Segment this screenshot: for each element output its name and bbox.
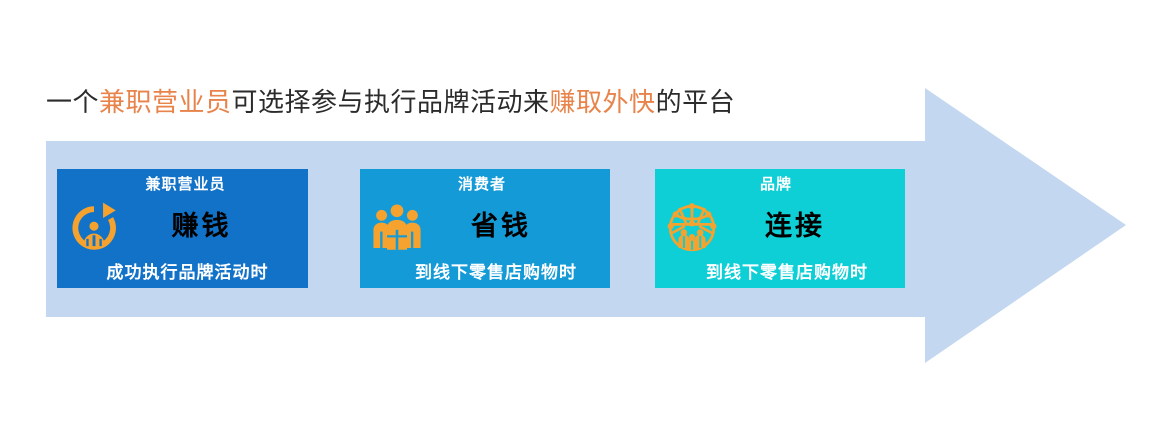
card-footer-label: 到线下零售店购物时 (655, 261, 905, 285)
headline-segment-1: 一个 (46, 88, 99, 117)
card-footer-label: 到线下零售店购物时 (360, 261, 610, 285)
card-brand[interactable]: 品牌 连接 到线下零售店购物时 (655, 169, 905, 288)
card-header-label: 品牌 (655, 174, 905, 196)
card-main-label: 连接 (655, 209, 905, 243)
card-footer-label: 成功执行品牌活动时 (57, 261, 308, 285)
card-header-label: 兼职营业员 (57, 174, 308, 196)
headline-segment-3: 可选择参与执行品牌活动来 (232, 88, 550, 117)
page-title: 一个兼职营业员可选择参与执行品牌活动来赚取外快的平台 (46, 86, 735, 120)
card-main-label: 赚钱 (57, 209, 308, 243)
card-part-time-clerk[interactable]: 兼职营业员 赚钱 成功执行品牌活动时 (57, 169, 308, 288)
card-consumer[interactable]: 消费者 省钱 到线下零售店购物时 (360, 169, 610, 288)
card-main-label: 省钱 (360, 209, 610, 243)
headline-segment-4-accent: 赚取外快 (550, 88, 656, 117)
headline-segment-2-accent: 兼职营业员 (99, 88, 232, 117)
card-header-label: 消费者 (360, 174, 610, 196)
headline-segment-5: 的平台 (656, 88, 736, 117)
value-cards-row: 兼职营业员 赚钱 成功执行品牌活动时 消费者 (57, 169, 917, 288)
